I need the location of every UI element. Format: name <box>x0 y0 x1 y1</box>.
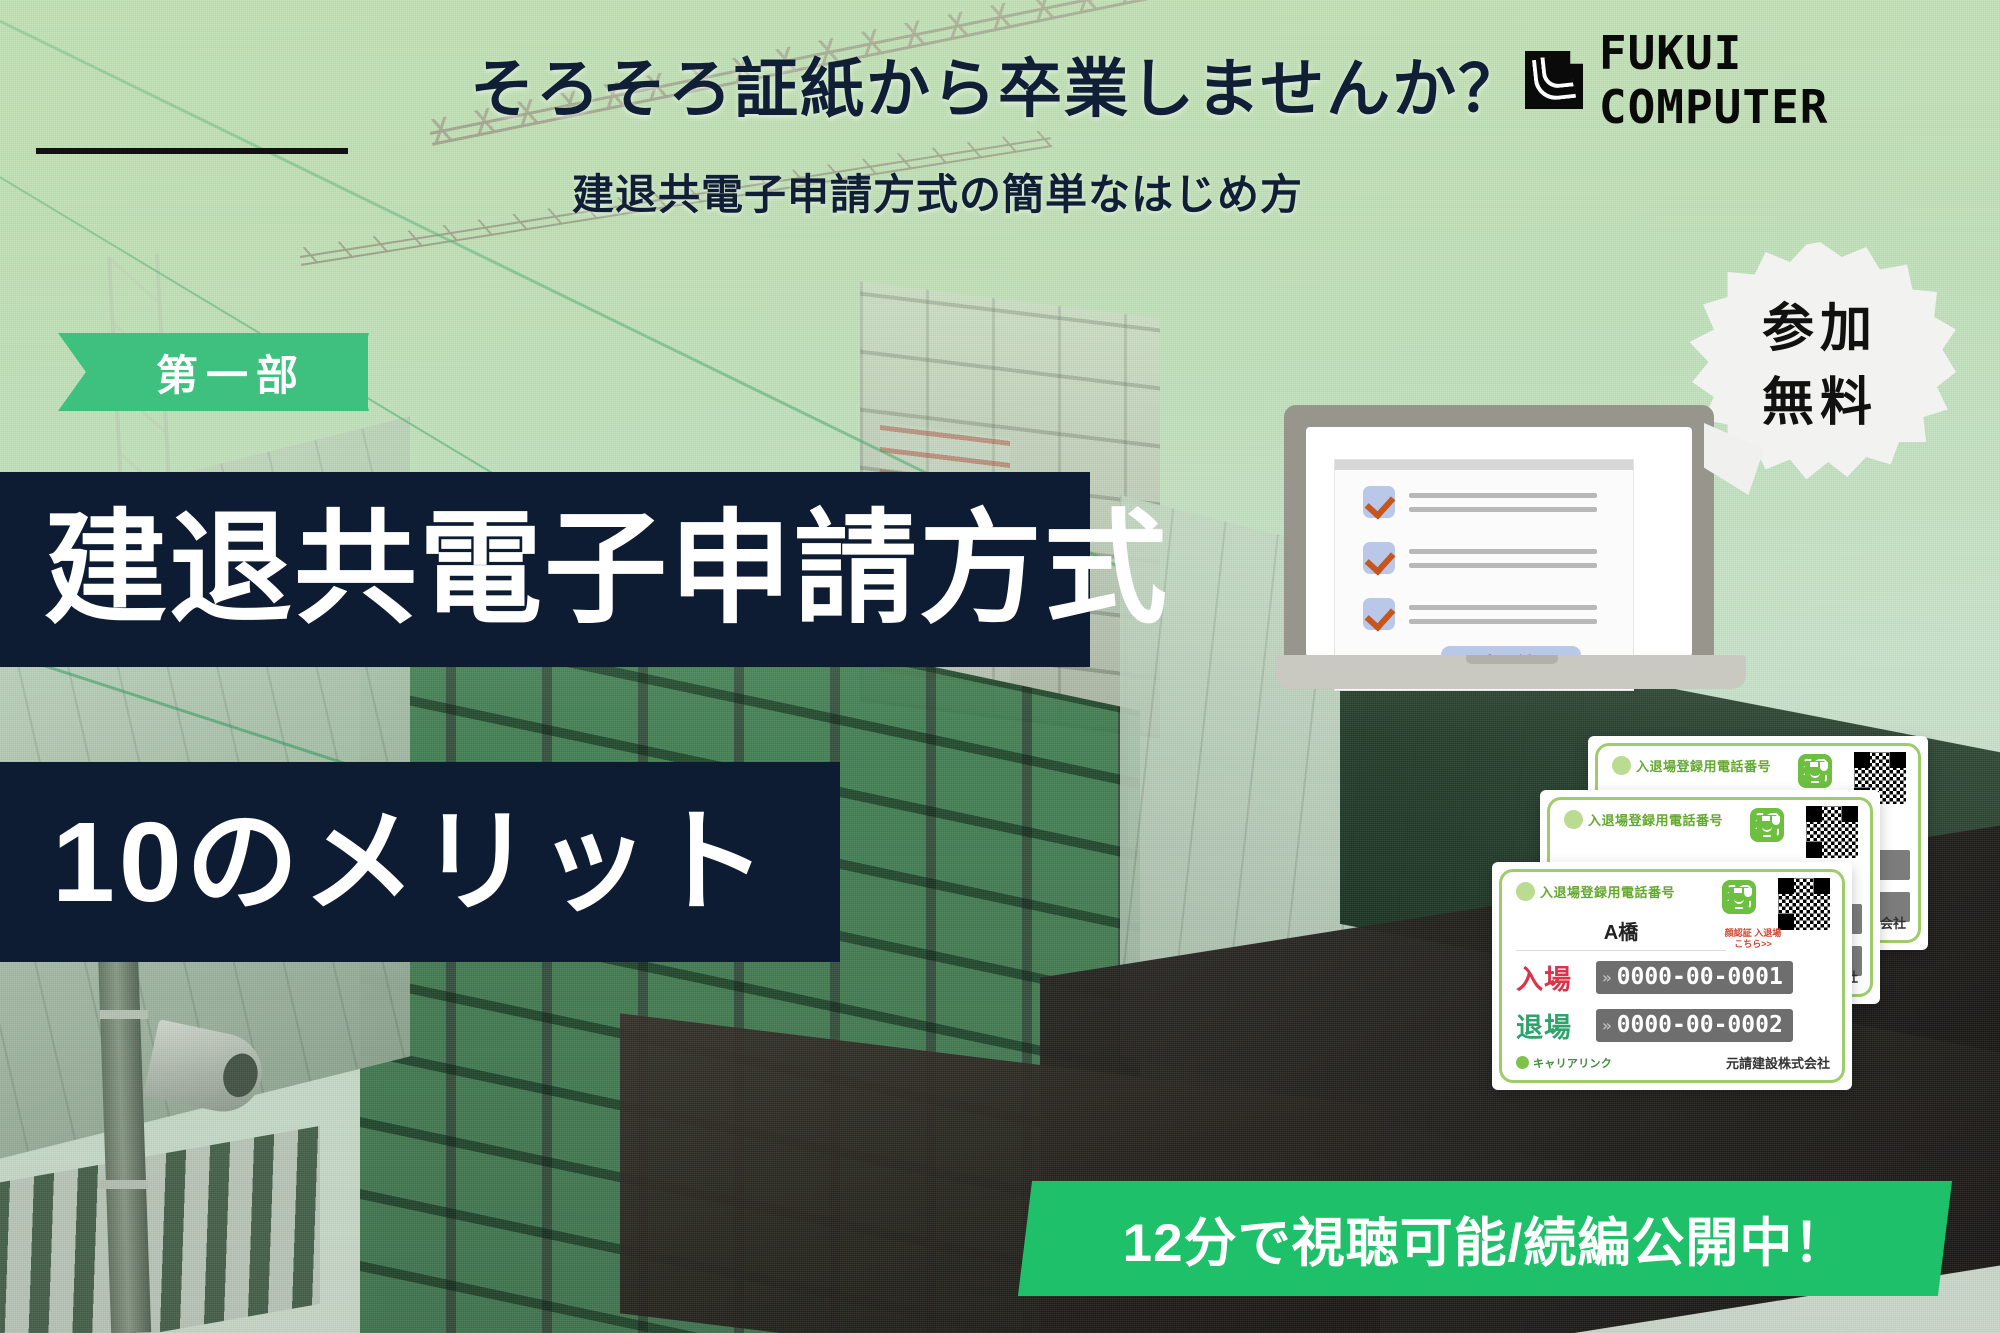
card-footer: キャリアリンク 元請建設株式会社 <box>1516 1053 1830 1072</box>
footer-banner-label: 12分で視聴可能/続編公開中！ <box>1025 1181 1945 1296</box>
ribbon-label: 第一部 <box>120 342 306 403</box>
exit-number-chip: » 0000-00-0002 <box>1596 1009 1793 1042</box>
card-header-label: 入退場登録用電話番号 <box>1540 882 1675 901</box>
qr-code-icon <box>1806 806 1858 858</box>
exit-label: 退場 <box>1516 1006 1590 1045</box>
poster-canvas: FUKUI COMPUTER そろそろ証紙から卒業しませんか？ 建退共電子申請方… <box>0 0 2000 1333</box>
card-header: 入退場登録用電話番号 <box>1516 882 1675 901</box>
card-header-label: 入退場登録用電話番号 <box>1588 810 1723 829</box>
card-bullet-icon <box>1516 882 1535 901</box>
fukui-computer-logo: FUKUI COMPUTER <box>1525 26 2000 134</box>
badge-line-2: 無料 <box>1762 367 1878 441</box>
text-lines <box>1409 493 1597 512</box>
entry-label: 入場 <box>1516 958 1590 997</box>
badge-line-1: 参加 <box>1762 293 1878 367</box>
card-header: 入退場登録用電話番号 <box>1612 756 1771 775</box>
brand-dot-icon <box>1516 1056 1529 1069</box>
qr-note-line-2: こちら>> <box>1722 939 1784 950</box>
checkmark-icon <box>1363 542 1395 574</box>
checklist-row <box>1363 486 1597 518</box>
qr-note-line-1: 顔認証 入退場 <box>1722 928 1784 939</box>
chevron-right-icon: » <box>1602 968 1612 987</box>
qr-instruction-note: 顔認証 入退場 こちら>> <box>1722 928 1784 951</box>
title-line-1: 建退共電子申請方式 <box>0 508 1169 631</box>
face-id-icon <box>1798 754 1832 788</box>
decorative-rule <box>36 148 348 154</box>
laptop-trackpad-notch <box>1466 655 1558 664</box>
checkmark-icon <box>1363 598 1395 630</box>
text-lines <box>1409 549 1597 568</box>
card-bullet-icon <box>1612 756 1631 775</box>
text-lines <box>1409 605 1597 624</box>
card-brand: キャリアリンク <box>1516 1055 1612 1071</box>
qr-code-icon[interactable] <box>1778 878 1830 930</box>
part-ribbon: 第一部 <box>58 333 368 411</box>
entry-number-chip: » 0000-00-0001 <box>1596 961 1793 994</box>
title-block-secondary: 10のメリット <box>0 762 840 962</box>
checkmark-icon <box>1363 486 1395 518</box>
laptop-illustration: 申 請 <box>1276 405 1746 705</box>
exit-number-value: 0000-00-0002 <box>1617 1012 1783 1038</box>
page-subheadline: 建退共電子申請方式の簡単なはじめ方 <box>572 172 1472 218</box>
card-header: 入退場登録用電話番号 <box>1564 810 1723 829</box>
card-bullet-icon <box>1564 810 1583 829</box>
face-id-icon <box>1722 880 1756 914</box>
face-id-icon <box>1750 808 1784 842</box>
card-site-name: A橋 <box>1516 916 1726 951</box>
chevron-right-icon: » <box>1602 1016 1612 1035</box>
card-corp-name: 元請建設株式会社 <box>1726 1053 1830 1072</box>
card-header-label: 入退場登録用電話番号 <box>1636 756 1771 775</box>
id-card-front: 入退場登録用電話番号 顔認証 入退場 こちら>> A橋 入場 » 0000-00… <box>1492 862 1852 1090</box>
checklist-row <box>1363 598 1597 630</box>
page-headline: そろそろ証紙から卒業しませんか？ <box>470 56 1590 124</box>
entry-number-value: 0000-00-0001 <box>1617 964 1783 990</box>
laptop-lid: 申 請 <box>1284 405 1714 667</box>
exit-number-row: 退場 » 0000-00-0002 <box>1516 1006 1793 1045</box>
title-block-primary: 建退共電子申請方式 <box>0 472 1090 667</box>
checklist-row <box>1363 542 1597 574</box>
title-line-2: 10のメリット <box>0 806 771 919</box>
logo-wordmark: FUKUI COMPUTER <box>1599 26 2000 134</box>
entry-number-row: 入場 » 0000-00-0001 <box>1516 958 1793 997</box>
card-brand-text: キャリアリンク <box>1533 1055 1612 1071</box>
screen-titlebar <box>1335 460 1633 470</box>
